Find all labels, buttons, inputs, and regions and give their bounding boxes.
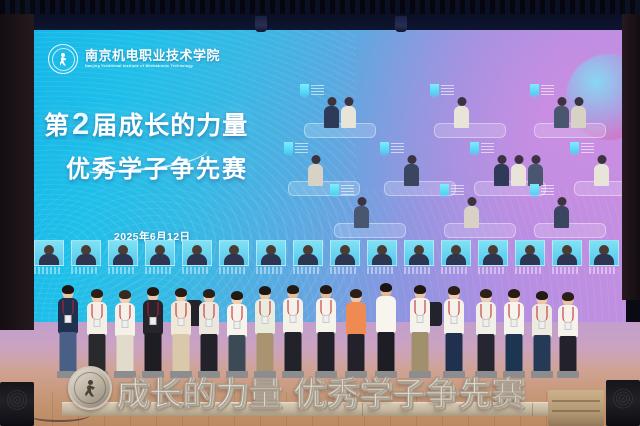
card-person <box>464 206 479 228</box>
id-badge <box>178 318 185 326</box>
id-badge <box>539 321 546 329</box>
card-person <box>554 206 569 228</box>
card-caption-text <box>581 143 594 153</box>
person <box>474 290 498 372</box>
school-name-cn: 南京机电职业技术学院 <box>85 49 220 62</box>
card-caption-text <box>295 143 308 153</box>
card-banner-icon <box>284 142 293 157</box>
card-caption-text <box>391 143 404 153</box>
card-nameplate <box>534 223 606 238</box>
card-caption-text <box>341 185 354 195</box>
lanyard <box>232 306 243 321</box>
person <box>85 290 109 372</box>
portrait-thumbnail <box>589 240 617 274</box>
card-nameplate <box>434 123 506 138</box>
portrait-card <box>440 182 526 240</box>
lanyard <box>415 300 426 315</box>
lanyard <box>509 304 520 319</box>
standing-letter: 长 <box>149 378 182 410</box>
person <box>197 290 221 372</box>
downlight-icon <box>255 16 267 32</box>
portrait-card <box>430 82 516 140</box>
card-caption-text <box>541 185 554 195</box>
card-caption-text <box>311 85 324 95</box>
lanyard <box>204 304 215 319</box>
card-person <box>454 106 469 128</box>
standing-title-word2: 优秀学子争先赛 <box>293 378 524 410</box>
lanyard <box>481 304 492 319</box>
lanyard <box>260 301 271 316</box>
lanyard <box>148 302 159 317</box>
standing-letter: 量 <box>248 378 281 410</box>
person <box>225 292 249 372</box>
stage-curtain-right <box>622 0 640 300</box>
card-person <box>341 106 356 128</box>
lanyard <box>120 305 131 320</box>
person <box>113 291 137 372</box>
school-emblem-icon <box>68 366 112 410</box>
headline-edition-number: 2 <box>72 106 90 142</box>
id-badge <box>323 315 330 323</box>
id-badge <box>262 316 269 324</box>
person <box>502 290 526 372</box>
card-caption-text <box>451 185 464 195</box>
power-cable <box>28 408 90 422</box>
portrait-card <box>530 182 616 240</box>
lanyard <box>563 307 574 322</box>
stage-photo: 南京机电职业技术学院 Nanjing Vocational Institute … <box>0 0 640 426</box>
card-person <box>324 106 339 128</box>
headline-prefix: 第 <box>44 106 70 142</box>
event-headline: 第 2 届成长的力量 优秀学子争先赛 <box>44 106 314 184</box>
lanyard <box>321 300 332 315</box>
id-badge <box>94 319 101 327</box>
standing-letter: 秀 <box>326 378 359 410</box>
person <box>530 292 554 372</box>
portrait-card <box>530 82 616 140</box>
person <box>141 288 165 372</box>
lanyard <box>449 301 460 316</box>
card-caption-text <box>541 85 554 95</box>
standing-letter: 学 <box>359 378 392 410</box>
stage-speaker <box>606 380 640 426</box>
id-badge <box>206 319 213 327</box>
person <box>281 286 305 372</box>
standing-letter: 优 <box>293 378 326 410</box>
standing-letter: 争 <box>425 378 458 410</box>
card-nameplate <box>444 223 516 238</box>
card-banner-icon <box>380 142 389 157</box>
person <box>442 287 466 372</box>
id-badge <box>565 322 572 330</box>
lanyard <box>92 304 103 319</box>
standing-3d-title: 成长的力量 优秀学子争先赛 <box>68 364 584 410</box>
lanyard <box>288 300 299 315</box>
card-person <box>554 106 569 128</box>
school-name-en: Nanjing Vocational Institute of Mechatro… <box>85 65 220 69</box>
card-banner-icon <box>470 142 479 157</box>
person <box>374 284 398 372</box>
school-logo-lockup: 南京机电职业技术学院 Nanjing Vocational Institute … <box>48 44 220 74</box>
person <box>56 286 80 372</box>
id-badge <box>150 317 157 325</box>
card-person <box>308 164 323 186</box>
card-banner-icon <box>530 184 539 199</box>
card-person <box>571 106 586 128</box>
id-badge <box>234 321 241 329</box>
lanyard <box>176 303 187 318</box>
standing-letter: 先 <box>458 378 491 410</box>
lanyard <box>63 300 74 315</box>
standing-letter: 成 <box>116 378 149 410</box>
card-person <box>354 206 369 228</box>
person <box>253 287 277 372</box>
person <box>556 293 580 372</box>
card-banner-icon <box>440 184 449 199</box>
headline-suffix: 届成长的力量 <box>92 106 248 142</box>
group-of-people <box>56 244 584 372</box>
stage-speaker <box>0 382 34 426</box>
person <box>169 289 193 372</box>
person <box>408 286 432 372</box>
id-badge <box>483 319 490 327</box>
id-badge <box>290 315 297 323</box>
lanyard <box>537 306 548 321</box>
card-banner-icon <box>570 142 579 157</box>
id-badge <box>451 316 458 324</box>
card-banner-icon <box>300 84 309 99</box>
portrait-card <box>330 182 416 240</box>
person <box>344 290 368 372</box>
standing-letter: 赛 <box>491 378 524 410</box>
standing-letter: 的 <box>182 378 215 410</box>
id-badge <box>122 320 129 328</box>
ceiling-pelmet <box>0 0 640 14</box>
card-caption-text <box>441 85 454 95</box>
school-emblem-icon <box>48 44 78 74</box>
id-badge <box>417 315 424 323</box>
downlight-icon <box>395 16 407 32</box>
id-badge <box>511 319 518 327</box>
floor-monitor <box>548 390 604 426</box>
stage-curtain-left <box>0 0 34 330</box>
id-badge <box>65 315 72 323</box>
card-banner-icon <box>430 84 439 99</box>
thumbnail-name-caption <box>589 267 617 274</box>
standing-letter: 子 <box>392 378 425 410</box>
standing-letter: 力 <box>215 378 248 410</box>
standing-title-word1: 成长的力量 <box>116 378 281 410</box>
card-banner-icon <box>530 84 539 99</box>
person <box>314 286 338 372</box>
portrait-card <box>300 82 386 140</box>
card-banner-icon <box>330 184 339 199</box>
card-nameplate <box>334 223 406 238</box>
card-caption-text <box>481 143 494 153</box>
